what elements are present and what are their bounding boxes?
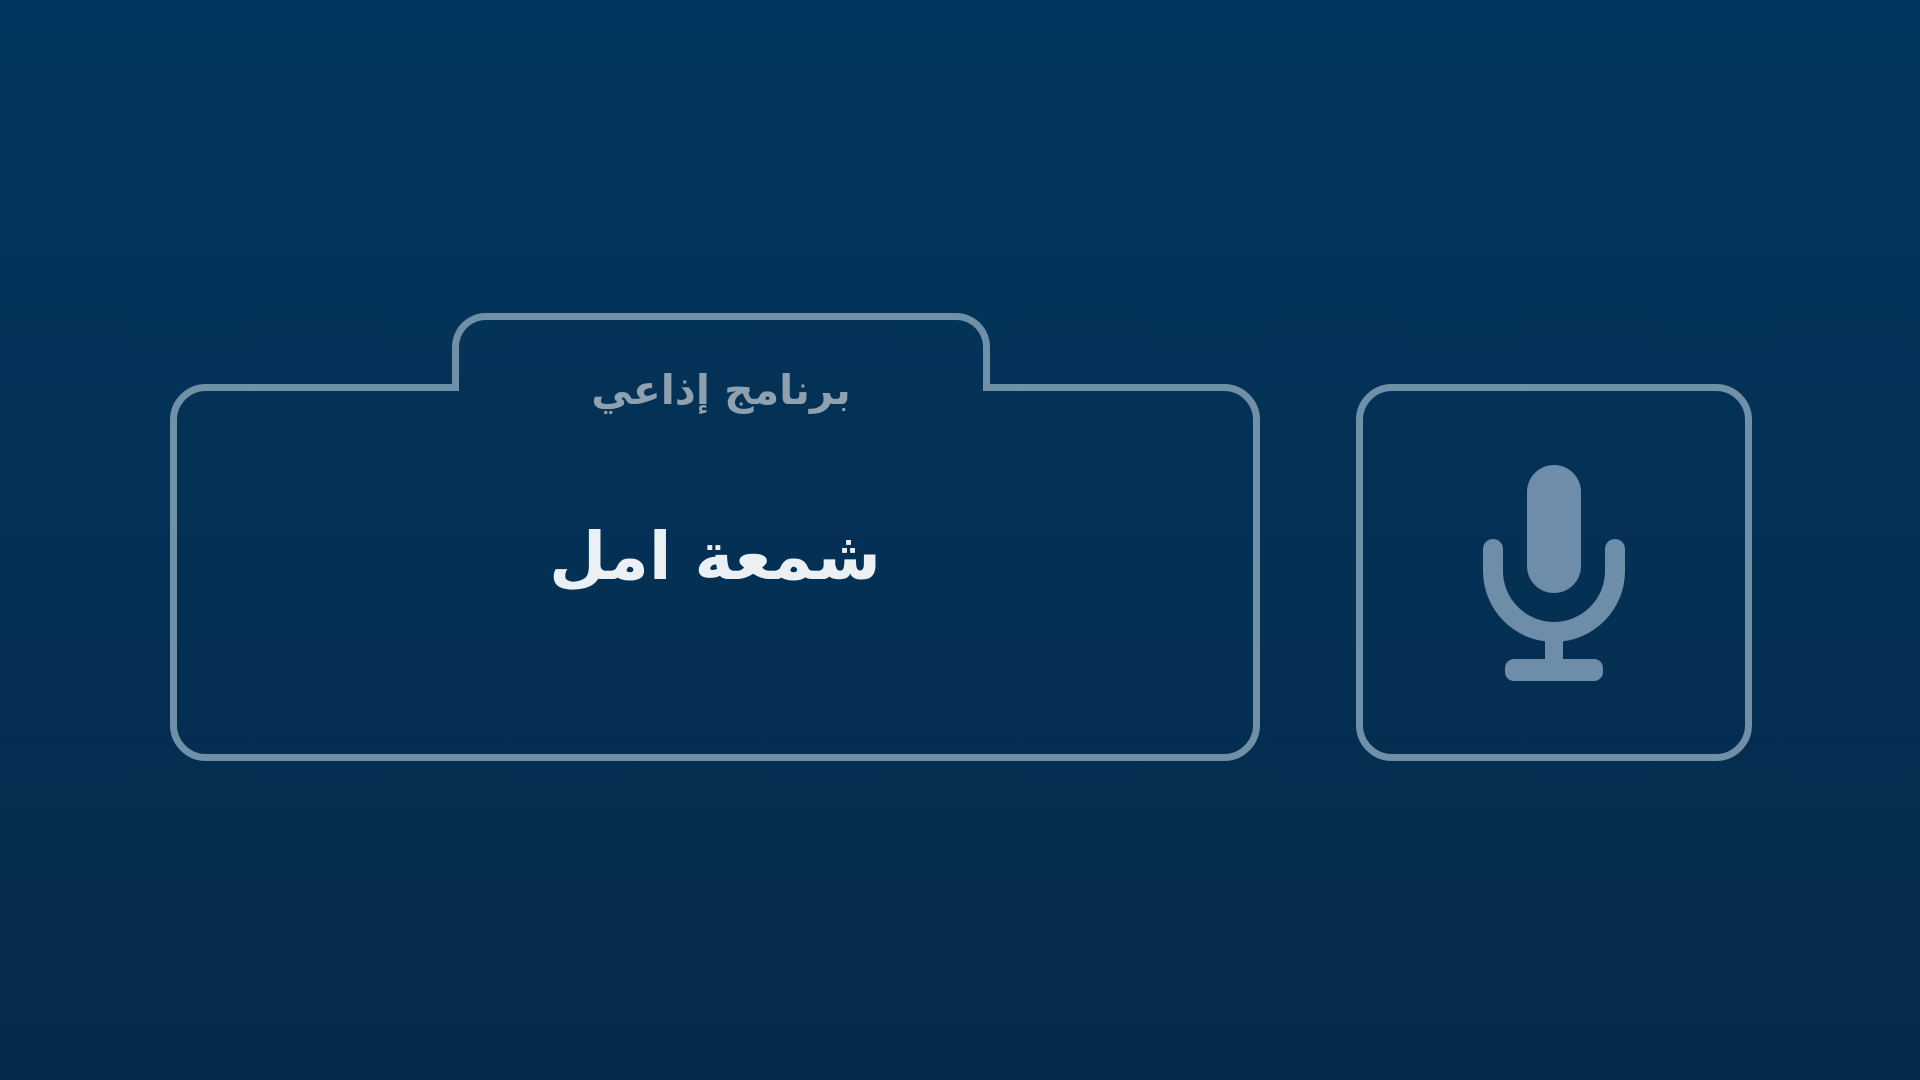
program-tab-label: برنامج إذاعي (591, 370, 851, 411)
microphone-icon (1483, 465, 1625, 681)
program-card[interactable]: برنامج إذاعي شمعة امل (170, 313, 1260, 761)
program-card-tab[interactable]: برنامج إذاعي (452, 313, 990, 391)
program-card-body (170, 384, 1260, 761)
microphone-card[interactable] (1356, 384, 1752, 761)
slide-canvas: برنامج إذاعي شمعة امل (0, 0, 1920, 1080)
